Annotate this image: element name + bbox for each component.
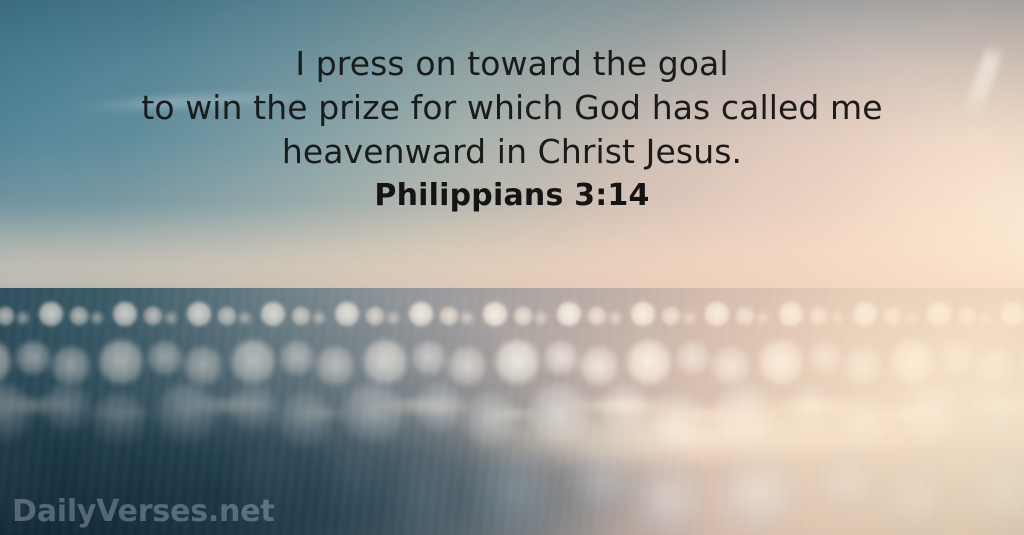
verse-reference: Philippians 3:14 bbox=[0, 176, 1024, 216]
verse-line-3: heavenward in Christ Jesus. bbox=[0, 130, 1024, 174]
site-watermark: DailyVerses.net bbox=[12, 495, 275, 529]
verse-text-block: I press on toward the goal to win the pr… bbox=[0, 42, 1024, 216]
verse-line-1: I press on toward the goal bbox=[0, 42, 1024, 86]
verse-line-2: to win the prize for which God has calle… bbox=[0, 86, 1024, 130]
verse-image-card: I press on toward the goal to win the pr… bbox=[0, 0, 1024, 535]
